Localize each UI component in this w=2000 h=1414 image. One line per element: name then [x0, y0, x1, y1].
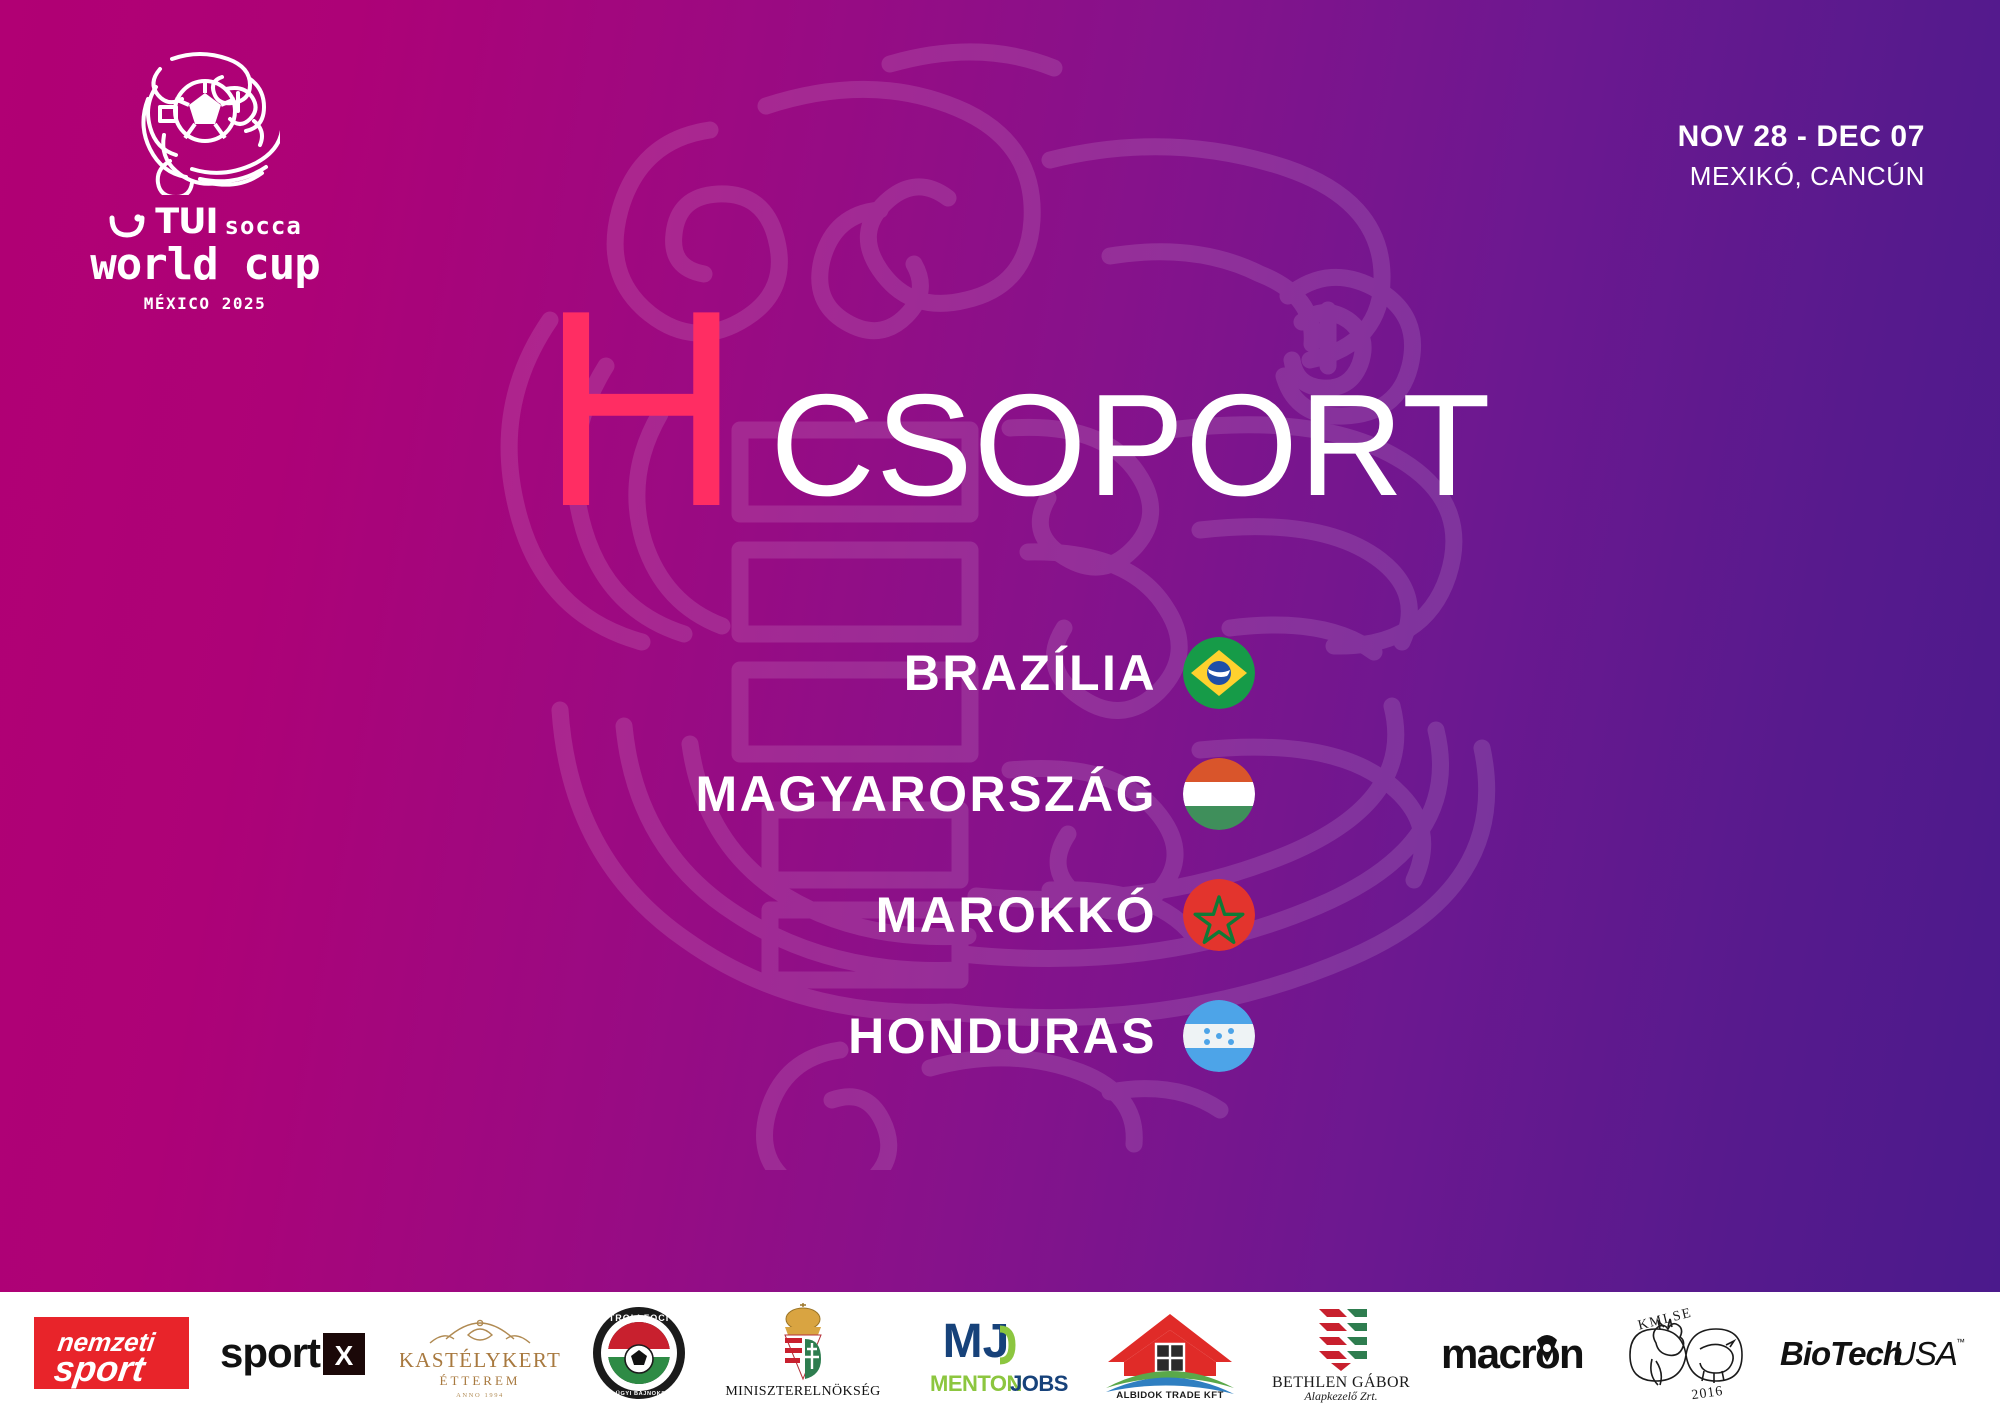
- sponsor-text: KASTÉLYKERT: [400, 1348, 560, 1372]
- sponsor-nemzeti-sport[interactable]: nemzeti sport: [34, 1303, 189, 1403]
- team-name: BRAZÍLIA: [904, 644, 1157, 702]
- sponsor-kastelykert-etterem[interactable]: KASTÉLYKERT ÉTTEREM ANNO 1994: [400, 1303, 560, 1403]
- team-row: HONDURAS: [0, 975, 1255, 1096]
- event-dates: NOV 28 - DEC 07: [1678, 120, 1925, 155]
- event-logo: TUI socca world cup MÉXICO 2025: [85, 45, 325, 313]
- sponsor-text: Alapkezelő Zrt.: [1303, 1389, 1377, 1403]
- tui-smile-icon: [108, 214, 148, 240]
- logo-brand-line: TUI socca: [85, 205, 325, 240]
- mayan-soccer-ball-glyph-icon: [130, 45, 280, 195]
- sponsor-text: X: [334, 1340, 353, 1371]
- sponsor-text: MJ: [942, 1315, 1009, 1368]
- team-name: MAGYARORSZÁG: [695, 765, 1157, 823]
- logo-brand-sub: socca: [225, 214, 302, 240]
- sponsor-text: ÉTTEREM: [440, 1373, 521, 1388]
- sponsor-albidok-trade[interactable]: ALBIDOK TRADE KFT: [1100, 1303, 1240, 1403]
- team-row: BRAZÍLIA: [0, 612, 1255, 733]
- sponsor-text: macron: [1441, 1330, 1583, 1377]
- group-headline: H CSOPORT: [540, 300, 1492, 518]
- event-venue: MEXIKÓ, CANCÚN: [1678, 161, 1925, 192]
- team-name: MAROKKÓ: [876, 886, 1157, 944]
- event-meta: NOV 28 - DEC 07 MEXIKÓ, CANCÚN: [1678, 120, 1925, 192]
- team-name: HONDURAS: [848, 1007, 1157, 1065]
- group-word: CSOPORT: [770, 379, 1491, 512]
- flag-brazil-icon: [1183, 637, 1255, 709]
- sponsor-text: ™: [1956, 1337, 1965, 1347]
- sponsor-miniszterelnokseg[interactable]: MINISZTERELNÖKSÉG: [717, 1303, 889, 1403]
- team-row: MAGYARORSZÁG: [0, 733, 1255, 854]
- team-list: BRAZÍLIA MAGYARORSZÁG: [0, 612, 1255, 1096]
- group-poster: TUI socca world cup MÉXICO 2025 NOV 28 -…: [0, 0, 2000, 1414]
- sponsor-bar: nemzeti sport sport X KASTÉLYKERT: [0, 1292, 2000, 1414]
- flag-honduras-icon: [1183, 1000, 1255, 1072]
- sponsor-text: JOBS: [1010, 1371, 1068, 1396]
- sponsor-text: MINISZTERELNÖKSÉG: [725, 1382, 880, 1399]
- sponsor-text: USA: [1892, 1335, 1957, 1372]
- sponsor-text: BELÜGYI BAJNOKSÁG: [602, 1390, 674, 1397]
- sponsor-text: 2016: [1690, 1384, 1724, 1401]
- sponsor-text: sport: [52, 1348, 150, 1389]
- sponsor-sport-x[interactable]: sport X: [220, 1303, 370, 1403]
- sponsor-kmlse[interactable]: KMLSE 2016: [1622, 1303, 1750, 1403]
- group-letter: H: [540, 300, 736, 518]
- sponsor-macron[interactable]: macron: [1441, 1303, 1591, 1403]
- sponsor-text: TROLLFOCI: [608, 1313, 669, 1323]
- sponsor-text: ANNO 1994: [456, 1392, 504, 1399]
- sponsor-text: MENTON: [930, 1371, 1022, 1396]
- sponsor-mentonjobs[interactable]: MJ MENTON JOBS: [920, 1303, 1070, 1403]
- team-row: MAROKKÓ: [0, 854, 1255, 975]
- flag-hungary-icon: [1183, 758, 1255, 830]
- sponsor-bethlen-gabor[interactable]: BETHLEN GÁBOR Alapkezelő Zrt.: [1271, 1303, 1411, 1403]
- sponsor-text: sport: [220, 1329, 321, 1376]
- sponsor-text: BioTech: [1780, 1335, 1902, 1372]
- sponsor-text: ALBIDOK TRADE KFT: [1116, 1390, 1224, 1401]
- flag-morocco-icon: [1183, 879, 1255, 951]
- sponsor-trollfoci[interactable]: TROLLFOCI BELÜGYI BAJNOKSÁG: [591, 1303, 687, 1403]
- sponsor-biotechusa[interactable]: BioTech USA ™: [1780, 1303, 1966, 1403]
- logo-brand: TUI: [155, 205, 217, 240]
- logo-year: MÉXICO 2025: [85, 294, 325, 313]
- logo-title: world cup: [85, 242, 325, 288]
